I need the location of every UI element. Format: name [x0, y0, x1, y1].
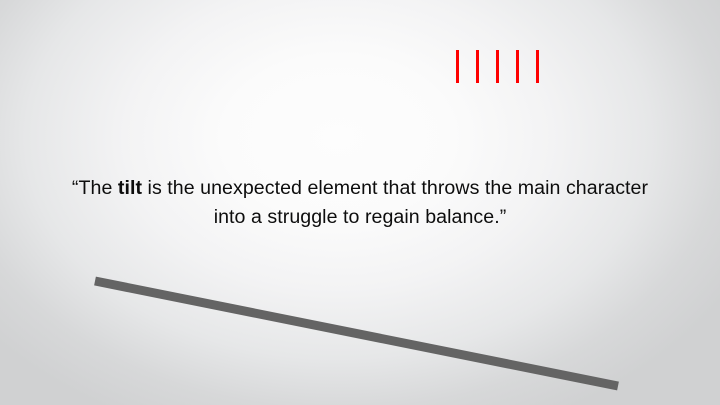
quote-line-1-prefix: “The	[72, 177, 118, 199]
slide-canvas: “The tilt is the unexpected element that…	[0, 0, 720, 405]
tilted-gray-bar	[95, 281, 618, 386]
quote-line-2: into a struggle to regain balance.”	[0, 203, 720, 232]
red-tally-marks	[456, 50, 542, 83]
quote-emphasis-tilt: tilt	[118, 177, 142, 199]
tally-mark-icon	[476, 50, 479, 83]
quote-line-1: “The tilt is the unexpected element that…	[0, 174, 720, 203]
tally-mark-icon	[456, 50, 459, 83]
tally-mark-icon	[516, 50, 519, 83]
tally-mark-icon	[536, 50, 539, 83]
quote-text: “The tilt is the unexpected element that…	[0, 174, 720, 232]
tally-mark-icon	[496, 50, 499, 83]
quote-line-1-suffix: is the unexpected element that throws th…	[142, 177, 648, 199]
